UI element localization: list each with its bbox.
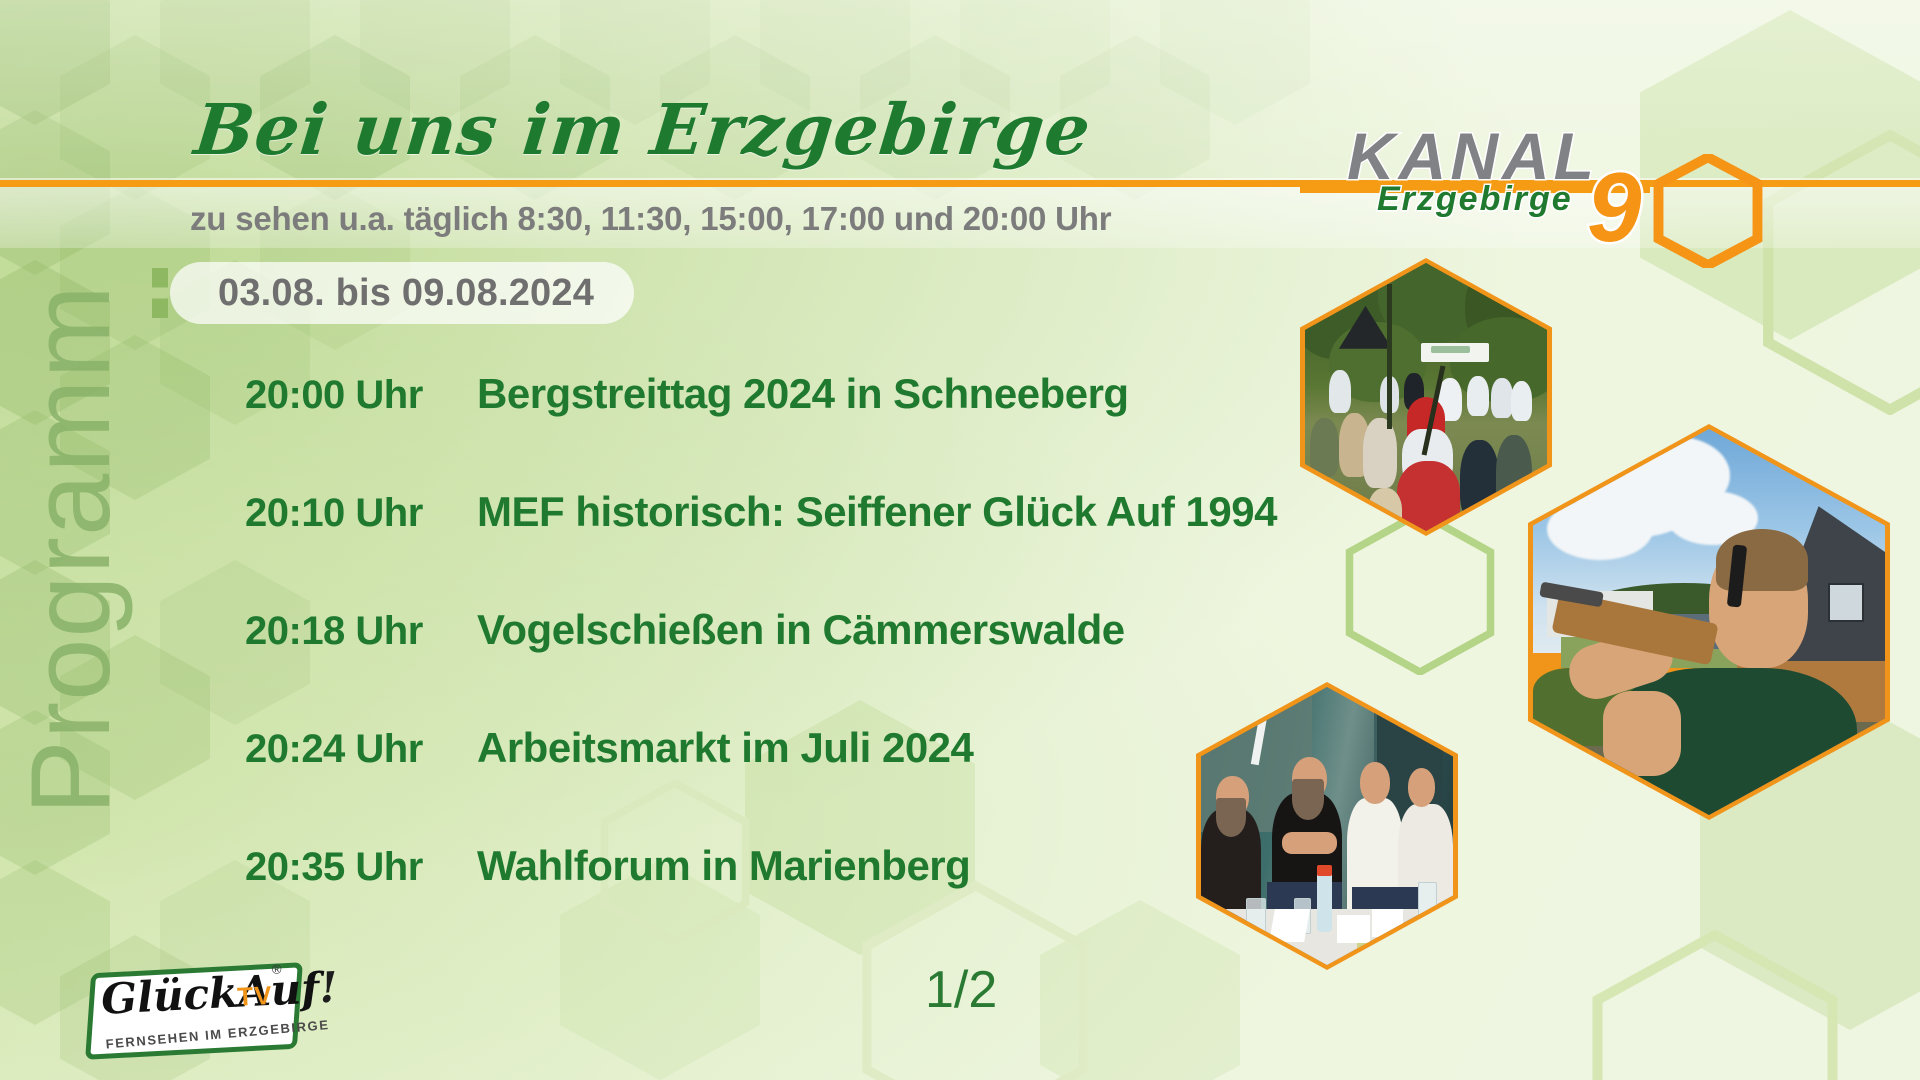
schedule-title: MEF historisch: Seiffener Glück Auf 1994 <box>477 488 1277 536</box>
schedule-time: 20:10 Uhr <box>245 491 435 536</box>
date-range-label: 03.08. bis 09.08.2024 <box>218 272 594 315</box>
page-title: Bei uns im Erzgebirge <box>191 95 1094 165</box>
schedule-list: 20:00 Uhr Bergstreittag 2024 in Schneebe… <box>245 370 1245 960</box>
schedule-time: 20:00 Uhr <box>245 373 435 418</box>
schedule-row: 20:18 Uhr Vogelschießen in Cämmerswalde <box>245 606 1245 724</box>
photo-wahlforum: Wahlen <box>1196 682 1458 970</box>
photo-bergstreittag <box>1300 258 1552 536</box>
station-logo-tv: TV <box>237 980 274 1013</box>
schedule-row: 20:35 Uhr Wahlforum in Marienberg <box>245 842 1245 960</box>
photo-inner <box>1305 263 1547 531</box>
channel-logo: KANAL Erzgebirge 9 <box>1335 118 1755 248</box>
schedule-row: 20:00 Uhr Bergstreittag 2024 in Schneebe… <box>245 370 1245 488</box>
photo-art-bergstreittag <box>1305 263 1547 531</box>
schedule-time: 20:35 Uhr <box>245 845 435 890</box>
programm-slide: Bei uns im Erzgebirge zu sehen u.a. tägl… <box>0 0 1920 1080</box>
photo-inner: Wahlen <box>1201 687 1453 965</box>
schedule-title: Wahlforum in Marienberg <box>477 842 970 890</box>
channel-logo-region: Erzgebirge <box>1377 180 1573 219</box>
photo-art-vogelschiessen <box>1533 429 1885 815</box>
photo-art-wahlforum: Wahlen <box>1201 687 1453 965</box>
date-tick-marker <box>152 268 168 318</box>
broadcast-times: zu sehen u.a. täglich 8:30, 11:30, 15:00… <box>190 200 1111 238</box>
page-indicator: 1/2 <box>925 960 997 1020</box>
schedule-time: 20:18 Uhr <box>245 609 435 654</box>
schedule-title: Bergstreittag 2024 in Schneeberg <box>477 370 1129 418</box>
hexagon-outline-icon <box>1653 154 1763 258</box>
photo-vogelschiessen <box>1528 424 1890 820</box>
station-logo: GlückAuf! ® TV FERNSEHEN IM ERZGEBIRGE <box>86 963 302 1060</box>
station-logo-exclamation: ! <box>318 962 339 1012</box>
schedule-time: 20:24 Uhr <box>245 727 435 772</box>
station-logo-name: GlückAuf! <box>100 966 339 1020</box>
sidebar-vertical-label: Programm <box>6 284 135 815</box>
channel-logo-number: 9 <box>1587 158 1642 256</box>
schedule-row: 20:10 Uhr MEF historisch: Seiffener Glüc… <box>245 488 1245 606</box>
photo-inner <box>1533 429 1885 815</box>
schedule-title: Vogelschießen in Cämmerswalde <box>477 606 1125 654</box>
schedule-row: 20:24 Uhr Arbeitsmarkt im Juli 2024 <box>245 724 1245 842</box>
schedule-title: Arbeitsmarkt im Juli 2024 <box>477 724 973 772</box>
date-range-pill: 03.08. bis 09.08.2024 <box>170 262 634 324</box>
registered-icon: ® <box>272 961 282 976</box>
